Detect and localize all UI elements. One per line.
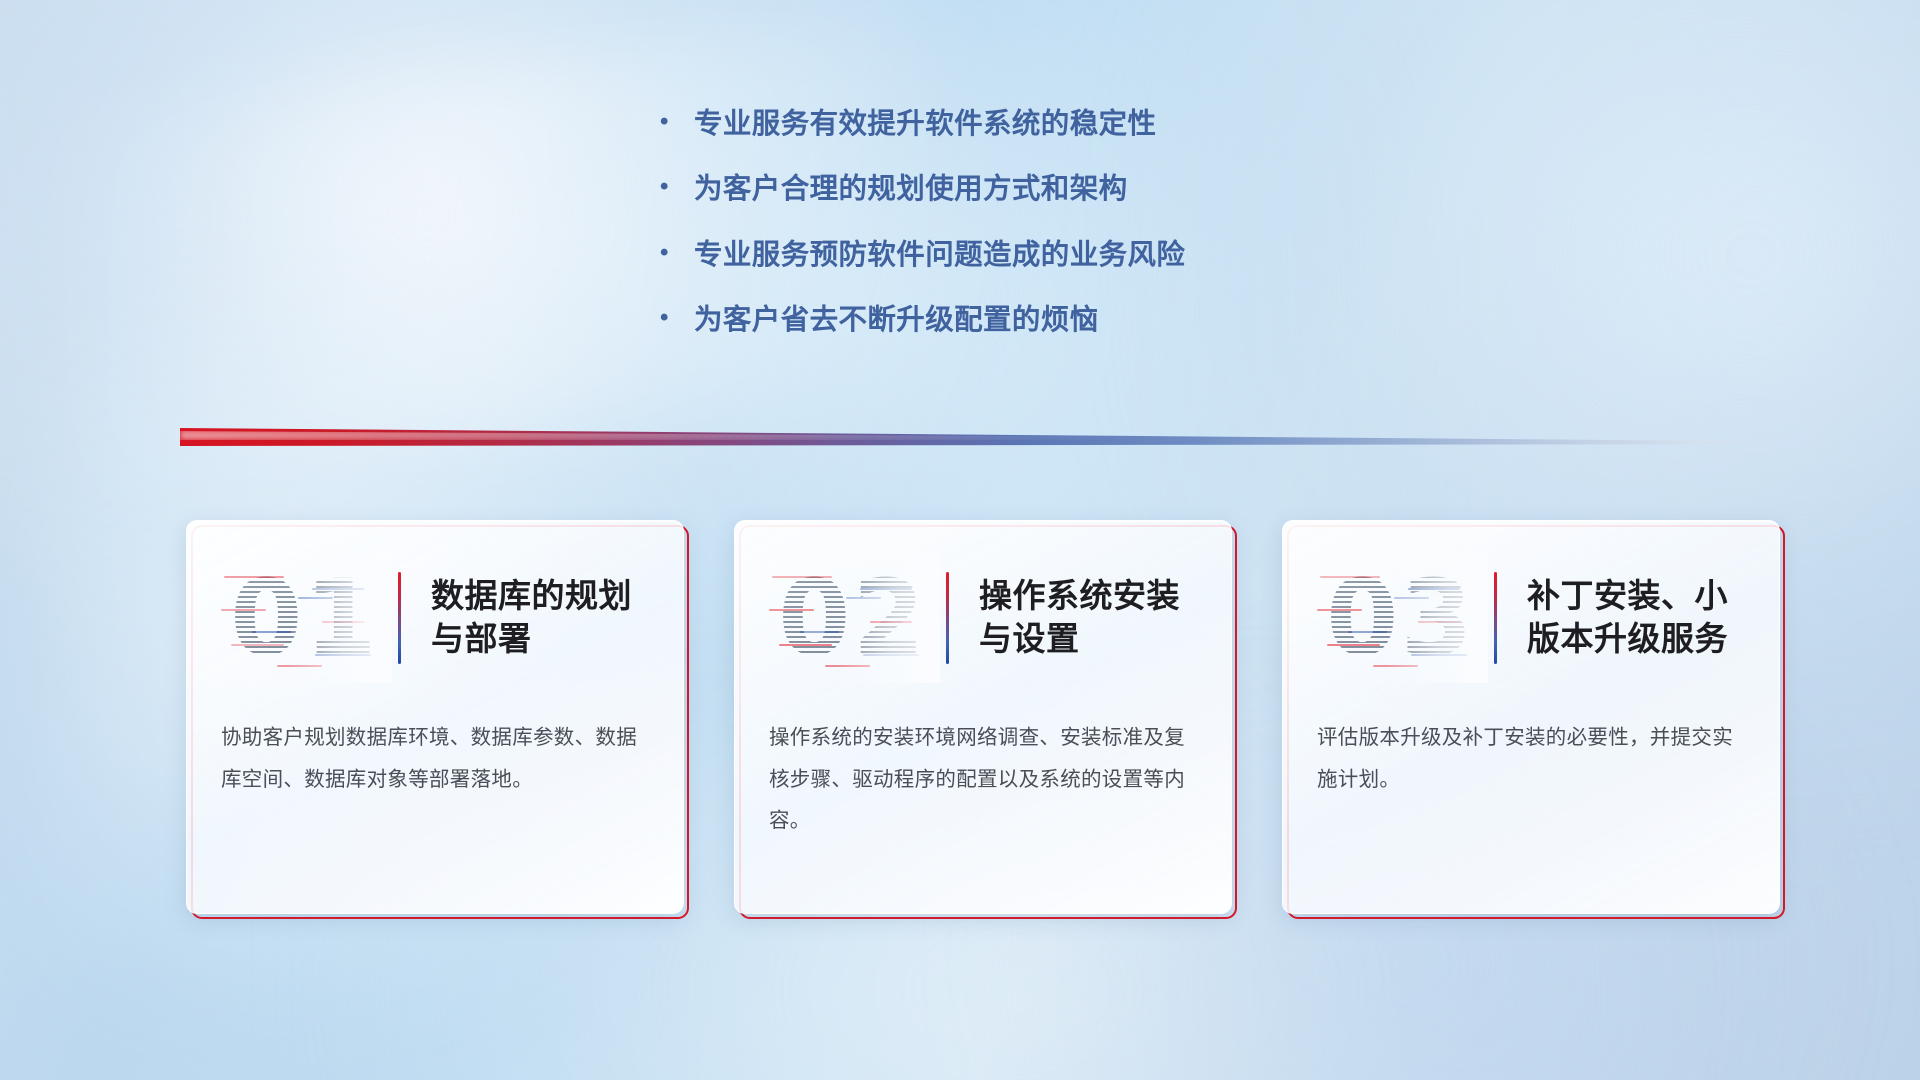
card-description: 评估版本升级及补丁安装的必要性，并提交实施计划。 bbox=[1317, 717, 1749, 800]
bullet-text: 专业服务有效提升软件系统的稳定性 bbox=[694, 106, 1420, 142]
service-card-01[interactable]: 01 数据库的规划 与部署 协助客户规划数据库环境、数据库参数、数据库空间、数据… bbox=[186, 520, 684, 914]
card-title-line: 版本升级服务 bbox=[1527, 618, 1759, 661]
bullet-marker-icon: • bbox=[660, 106, 694, 138]
card-number-watermark: 02 bbox=[765, 553, 940, 683]
bullet-marker-icon: • bbox=[660, 237, 694, 269]
card-number-badge: 01 bbox=[217, 553, 392, 683]
list-item: • 专业服务有效提升软件系统的稳定性 bbox=[660, 106, 1420, 142]
card-title-line: 与部署 bbox=[431, 618, 663, 661]
card-description: 操作系统的安装环境网络调查、安装标准及复核步骤、驱动程序的配置以及系统的设置等内… bbox=[769, 717, 1201, 842]
card-title-divider bbox=[946, 572, 949, 664]
card-title: 数据库的规划 与部署 bbox=[431, 575, 683, 661]
card-header: 01 数据库的规划 与部署 bbox=[187, 543, 683, 693]
card-number-badge: 03 bbox=[1313, 553, 1488, 683]
card-title-divider bbox=[398, 572, 401, 664]
card-number-watermark: 01 bbox=[217, 553, 392, 683]
section-divider bbox=[180, 424, 1760, 446]
slide-content: • 专业服务有效提升软件系统的稳定性 • 为客户合理的规划使用方式和架构 • 专… bbox=[0, 0, 1920, 1080]
bullet-marker-icon: • bbox=[660, 302, 694, 334]
card-title: 操作系统安装 与设置 bbox=[979, 575, 1231, 661]
card-panel: 02 操作系统安装 与设置 操作系统的安装环境网络调查、安装标准及复核步骤、驱动… bbox=[734, 520, 1232, 914]
service-card-02[interactable]: 02 操作系统安装 与设置 操作系统的安装环境网络调查、安装标准及复核步骤、驱动… bbox=[734, 520, 1232, 914]
card-panel: 01 数据库的规划 与部署 协助客户规划数据库环境、数据库参数、数据库空间、数据… bbox=[186, 520, 684, 914]
card-description: 协助客户规划数据库环境、数据库参数、数据库空间、数据库对象等部署落地。 bbox=[221, 717, 653, 800]
card-header: 02 操作系统安装 与设置 bbox=[735, 543, 1231, 693]
card-title-line: 数据库的规划 bbox=[431, 575, 663, 618]
card-number-badge: 02 bbox=[765, 553, 940, 683]
card-panel: 03 补丁安装、小 版本升级服务 评估版本升级及补丁安装的必要性，并提交实施计划… bbox=[1282, 520, 1780, 914]
list-item: • 为客户省去不断升级配置的烦恼 bbox=[660, 302, 1420, 338]
card-header: 03 补丁安装、小 版本升级服务 bbox=[1283, 543, 1779, 693]
card-title: 补丁安装、小 版本升级服务 bbox=[1527, 575, 1779, 661]
card-title-line: 补丁安装、小 bbox=[1527, 575, 1759, 618]
service-card-03[interactable]: 03 补丁安装、小 版本升级服务 评估版本升级及补丁安装的必要性，并提交实施计划… bbox=[1282, 520, 1780, 914]
list-item: • 专业服务预防软件问题造成的业务风险 bbox=[660, 237, 1420, 273]
card-title-line: 与设置 bbox=[979, 618, 1211, 661]
service-card-group: 01 数据库的规划 与部署 协助客户规划数据库环境、数据库参数、数据库空间、数据… bbox=[0, 520, 1920, 940]
card-title-divider bbox=[1494, 572, 1497, 664]
divider-gradient-bar bbox=[180, 424, 1760, 446]
card-title-line: 操作系统安装 bbox=[979, 575, 1211, 618]
benefits-bullet-list: • 专业服务有效提升软件系统的稳定性 • 为客户合理的规划使用方式和架构 • 专… bbox=[660, 106, 1420, 368]
bullet-marker-icon: • bbox=[660, 171, 694, 203]
bullet-text: 为客户合理的规划使用方式和架构 bbox=[694, 171, 1420, 207]
card-number-watermark: 03 bbox=[1313, 553, 1488, 683]
list-item: • 为客户合理的规划使用方式和架构 bbox=[660, 171, 1420, 207]
bullet-text: 专业服务预防软件问题造成的业务风险 bbox=[694, 237, 1420, 273]
bullet-text: 为客户省去不断升级配置的烦恼 bbox=[694, 302, 1420, 338]
